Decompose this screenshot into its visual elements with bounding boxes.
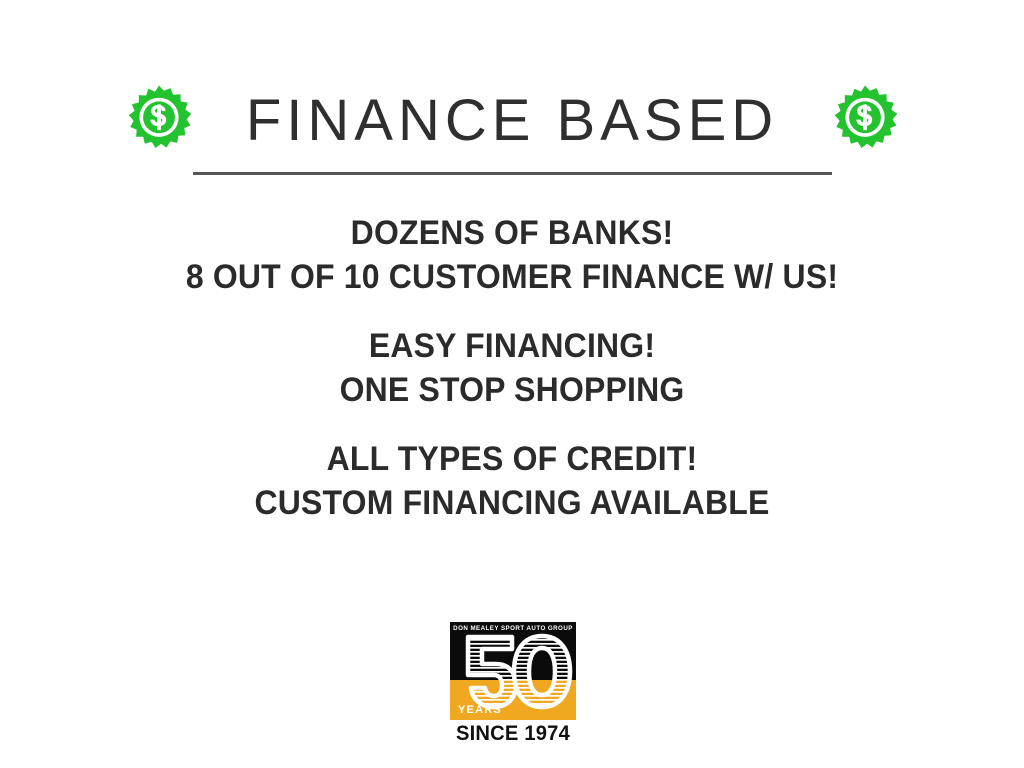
gear-dollar-icon-left <box>122 84 196 158</box>
finance-based-slide: FINANCE BASED DOZENS OF BANKS! 8 OUT OF … <box>0 0 1024 768</box>
subline-customer-finance: 8 OUT OF 10 CUSTOMER FINANCE W/ US! <box>31 256 994 300</box>
copy-block-banks: DOZENS OF BANKS! 8 OUT OF 10 CUSTOMER FI… <box>0 212 1024 299</box>
badge-years-label: YEARS <box>458 705 502 716</box>
header-row: FINANCE BASED <box>0 76 1024 166</box>
header: FINANCE BASED <box>0 76 1024 180</box>
subline-custom-financing-available: CUSTOM FINANCING AVAILABLE <box>31 482 994 526</box>
body-copy: DOZENS OF BANKS! 8 OUT OF 10 CUSTOMER FI… <box>0 212 1024 525</box>
gear-dollar-icon-right <box>828 84 902 158</box>
headline-all-types-of-credit: ALL TYPES OF CREDIT! <box>31 438 994 482</box>
page-title: FINANCE BASED <box>246 92 778 150</box>
subline-one-stop-shopping: ONE STOP SHOPPING <box>31 369 994 413</box>
headline-easy-financing: EASY FINANCING! <box>31 325 994 369</box>
headline-dozens-of-banks: DOZENS OF BANKS! <box>31 212 994 256</box>
fifty-numeral-icon <box>450 631 576 713</box>
copy-block-easy-financing: EASY FINANCING! ONE STOP SHOPPING <box>0 325 1024 412</box>
dealer-logo: DON MEALEY SPORT AUTO GROUP <box>450 622 576 745</box>
logo-since-label: SINCE 1974 <box>453 723 574 745</box>
header-divider <box>193 172 832 175</box>
copy-block-credit: ALL TYPES OF CREDIT! CUSTOM FINANCING AV… <box>0 438 1024 525</box>
anniversary-badge: DON MEALEY SPORT AUTO GROUP <box>450 622 576 720</box>
